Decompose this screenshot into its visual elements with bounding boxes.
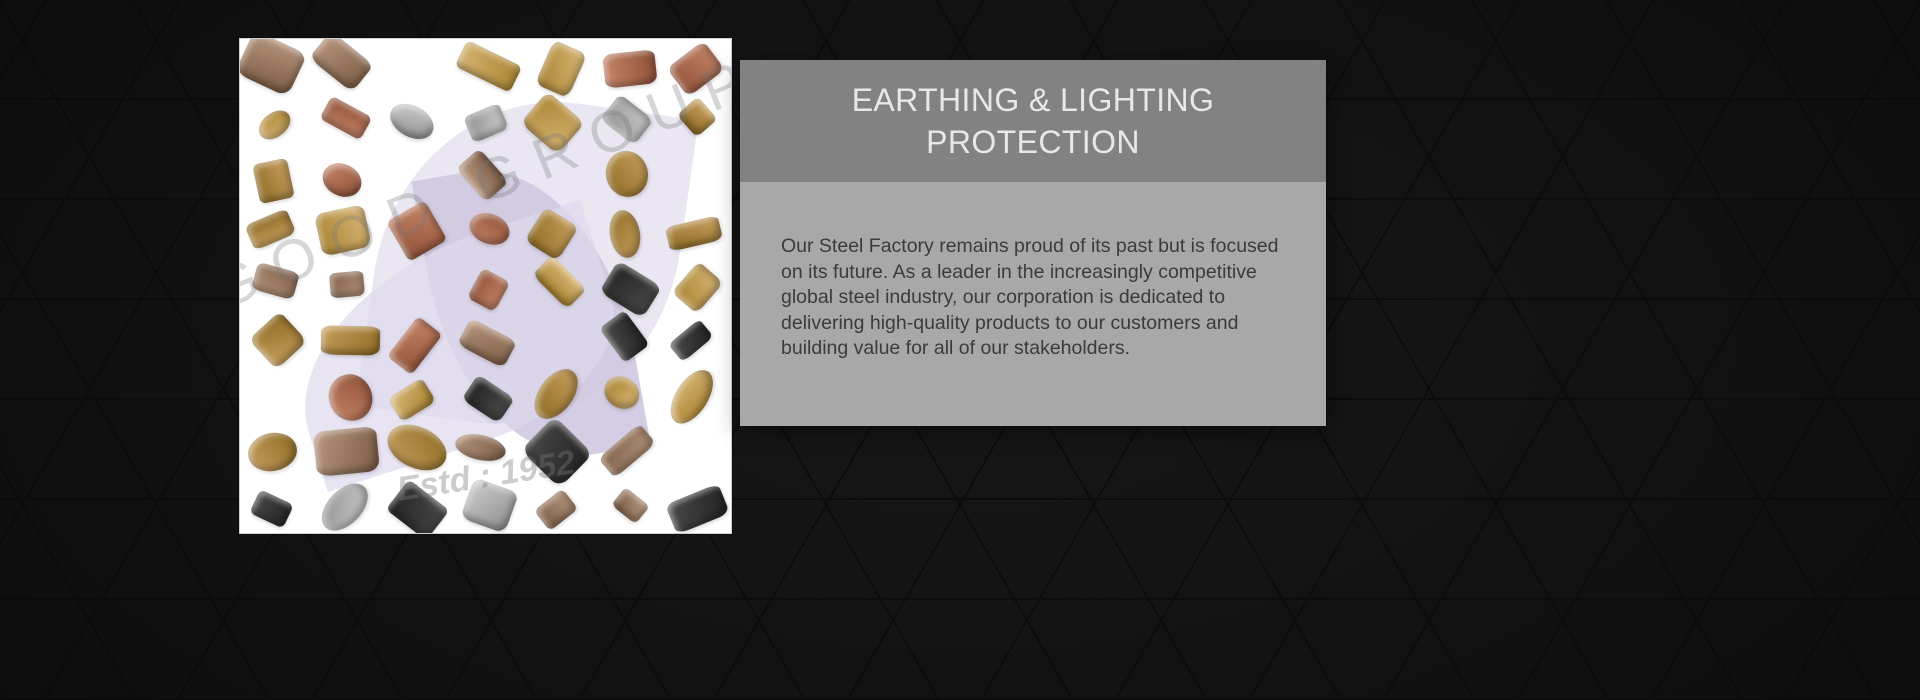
collage-part xyxy=(244,208,296,251)
slide-banner: GOOD GROUP Estd : 1952 EARTHING & LIGHTI… xyxy=(0,0,1920,700)
collage-part xyxy=(313,426,380,477)
collage-part xyxy=(386,479,450,534)
collage-part xyxy=(329,271,365,299)
panel-description: Our Steel Factory remains proud of its p… xyxy=(781,234,1282,362)
collage-part xyxy=(245,429,301,476)
product-collage-image[interactable]: GOOD GROUP Estd : 1952 xyxy=(239,38,732,534)
collage-part xyxy=(666,41,724,98)
collage-part xyxy=(668,319,714,363)
collage-part xyxy=(249,489,294,529)
collage-part xyxy=(320,96,372,140)
collage-part xyxy=(239,38,307,97)
collage-part xyxy=(317,157,367,203)
collage-part xyxy=(309,38,374,92)
collage-part xyxy=(666,484,731,534)
collage-part xyxy=(534,40,586,98)
collage-canvas: GOOD GROUP Estd : 1952 xyxy=(240,39,731,533)
collage-part xyxy=(252,158,294,204)
collage-part xyxy=(672,261,724,314)
collage-part xyxy=(534,489,578,531)
collage-part xyxy=(253,104,295,144)
collage-part xyxy=(662,364,721,431)
collage-part xyxy=(249,312,307,370)
info-panel-header: EARTHING & LIGHTING PROTECTION xyxy=(740,60,1326,182)
info-panel: EARTHING & LIGHTING PROTECTION Our Steel… xyxy=(740,60,1326,426)
collage-part xyxy=(602,49,657,89)
collage-part xyxy=(454,40,522,93)
info-panel-body: Our Steel Factory remains proud of its p… xyxy=(740,182,1326,426)
panel-title: EARTHING & LIGHTING PROTECTION xyxy=(768,79,1298,163)
collage-part xyxy=(611,487,649,524)
collage-part xyxy=(460,477,519,534)
collage-part xyxy=(314,204,372,256)
collage-part xyxy=(251,262,300,300)
collage-part xyxy=(320,325,380,355)
collage-part xyxy=(385,97,440,146)
